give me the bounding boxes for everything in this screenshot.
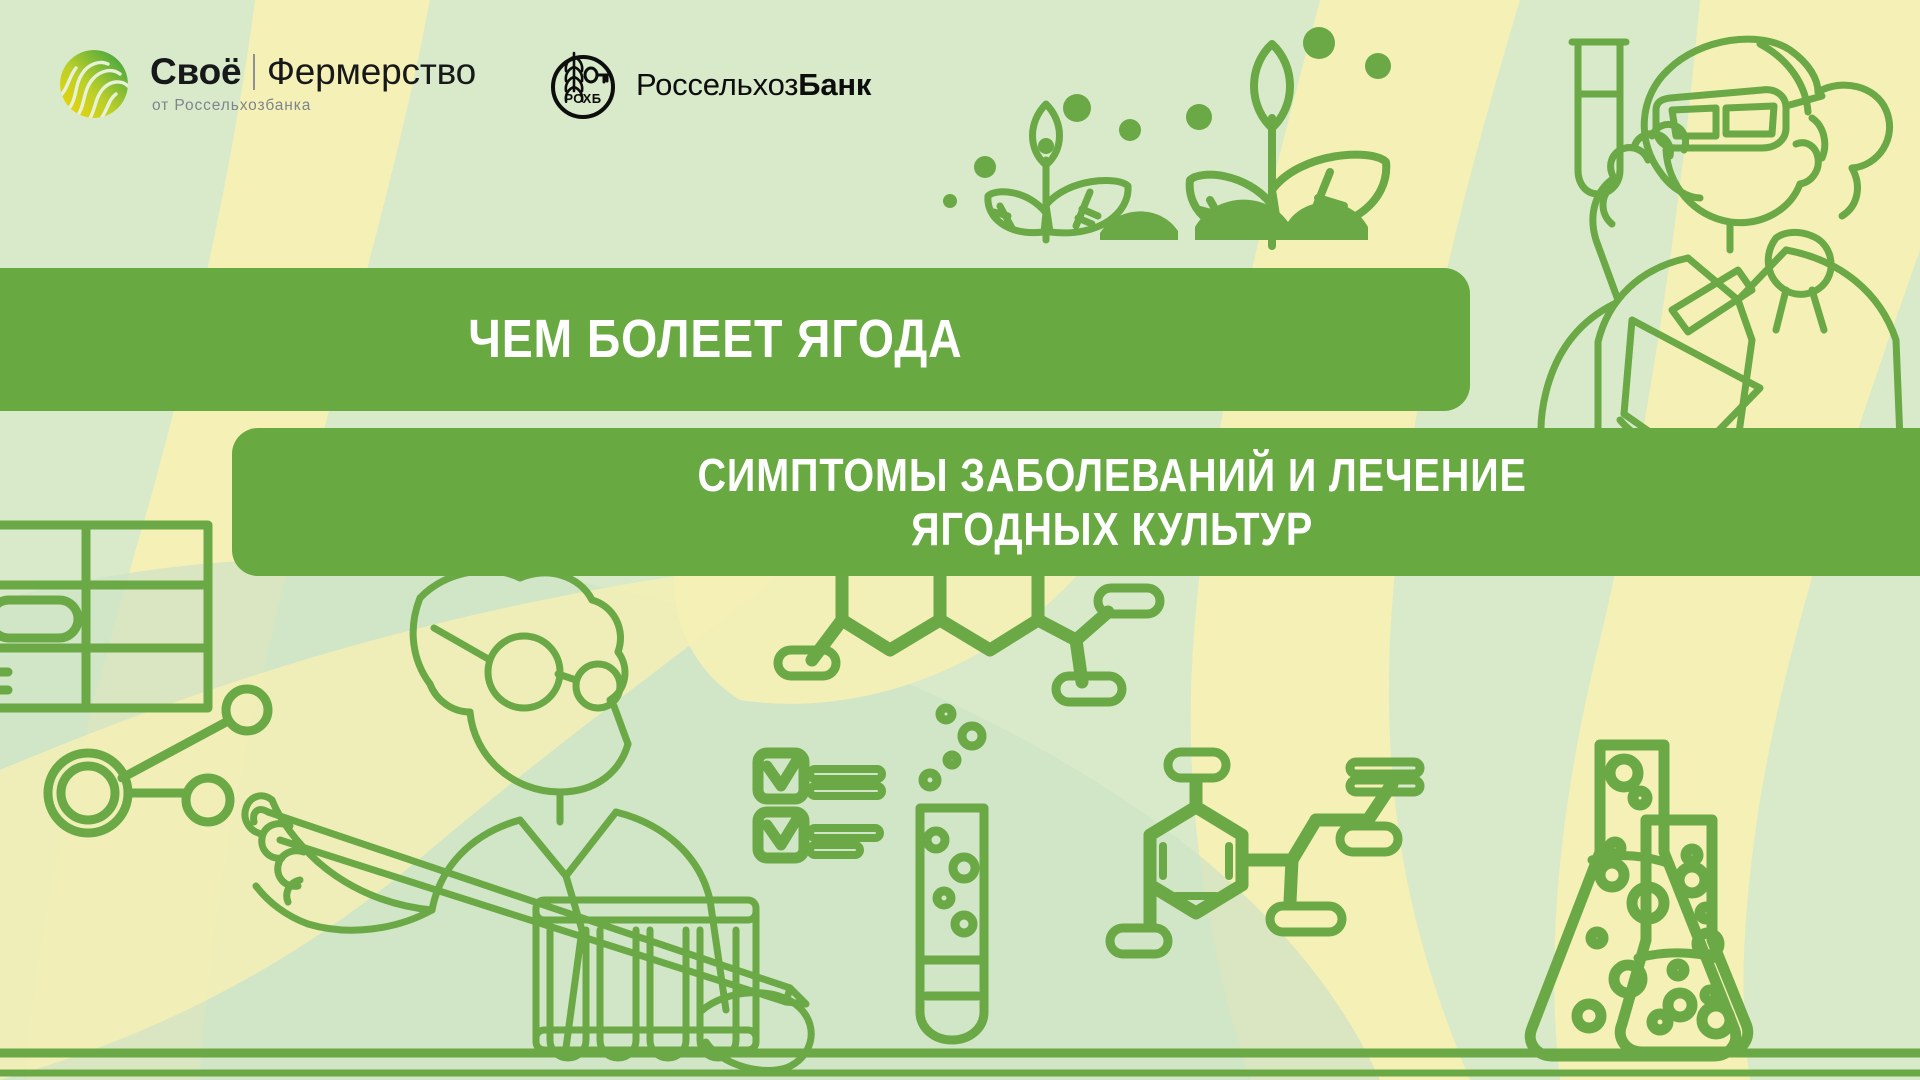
rosselkhozbank-wordmark: РоссельхозБанк <box>636 69 871 100</box>
rshb-regular: Россельхоз <box>636 67 798 102</box>
logo-subtitle: от Россельхозбанка <box>152 97 476 115</box>
svg-text:РСХБ: РСХБ <box>564 91 601 106</box>
logo-separator <box>253 54 255 90</box>
main-title-text: ЧЕМ БОЛЕЕТ ЯГОДА <box>468 311 962 368</box>
main-title-banner: ЧЕМ БОЛЕЕТ ЯГОДА <box>0 268 1470 411</box>
subtitle-text: СИМПТОМЫ ЗАБОЛЕВАНИЙ И ЛЕЧЕНИЕ ЯГОДНЫХ К… <box>697 448 1526 557</box>
leaf-swirl-circle-icon <box>52 42 136 126</box>
poster-root: Своё Фермерство от Россельхозбанка <box>0 0 1920 1080</box>
subtitle-banner: СИМПТОМЫ ЗАБОЛЕВАНИЙ И ЛЕЧЕНИЕ ЯГОДНЫХ К… <box>232 428 1920 576</box>
rshb-bold: Банк <box>798 67 871 102</box>
wheat-ear-circle-icon: РСХБ <box>544 45 622 123</box>
rosselkhozbank-logo[interactable]: РСХБ РоссельхозБанк <box>544 45 871 123</box>
logo-secondary-text: Фермерство <box>267 53 476 90</box>
svoe-fermerstvo-logo[interactable]: Своё Фермерство от Россельхозбанка <box>52 42 476 126</box>
logo-bar: Своё Фермерство от Россельхозбанка <box>52 42 871 126</box>
logo-primary-text: Своё <box>150 53 241 90</box>
